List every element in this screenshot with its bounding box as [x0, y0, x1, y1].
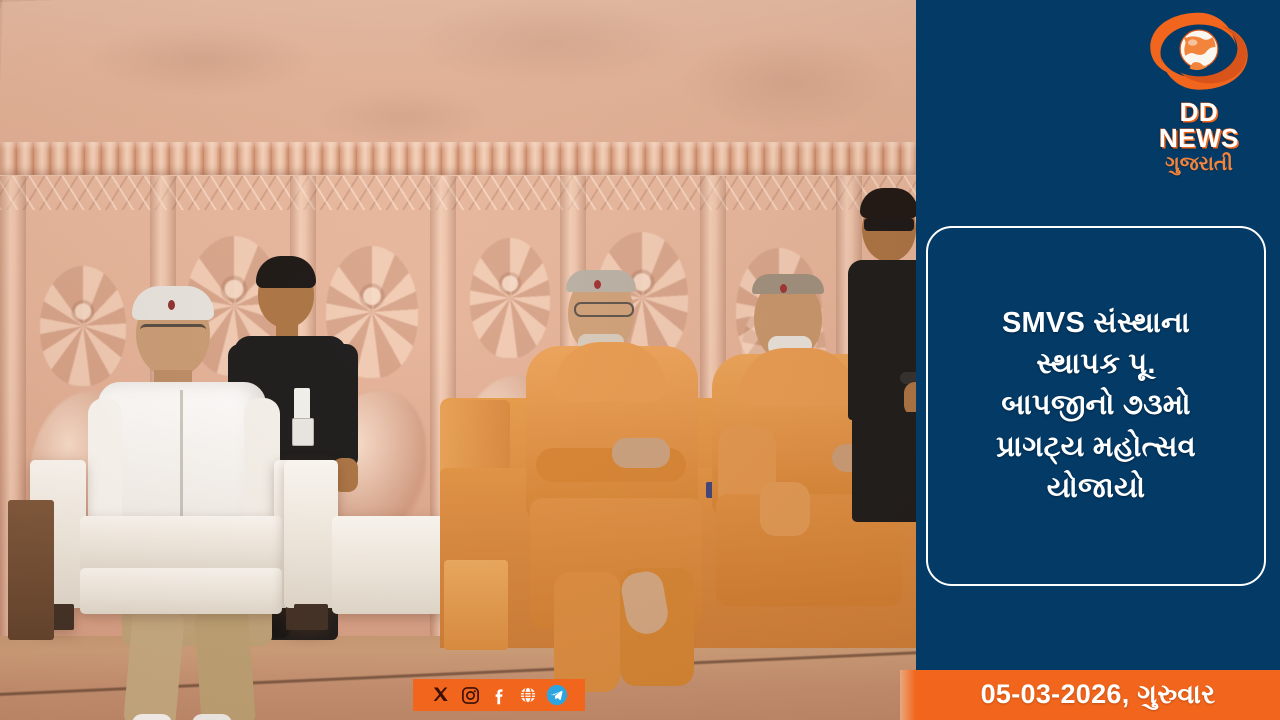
date-text: 05-03-2026, ગુરુવાર	[981, 679, 1216, 711]
security-officer-standing-right	[848, 182, 916, 512]
swami-seated-left	[520, 272, 710, 642]
date-bar: 05-03-2026, ગુરુવાર	[916, 670, 1280, 720]
wooden-stool	[8, 500, 54, 640]
telegram-icon[interactable]	[546, 684, 569, 707]
white-armchair-secondary	[284, 452, 444, 642]
x-twitter-icon[interactable]	[430, 684, 453, 707]
bead-molding-band	[0, 142, 916, 176]
date-bar-left-edge	[900, 670, 916, 720]
sandstone-wall-upper	[0, 0, 916, 150]
event-photograph	[0, 0, 916, 720]
globe-website-icon[interactable]	[517, 684, 540, 707]
dd-news-logo: DD NEWS ગુજરાતી	[1140, 8, 1258, 156]
sofa-drape-fold	[444, 560, 508, 650]
facebook-icon[interactable]	[488, 684, 511, 707]
instagram-icon[interactable]	[459, 684, 482, 707]
news-lower-third-screen: DD NEWS ગુજરાતી SMVS સંસ્થાના સ્થાપક પૂ.…	[0, 0, 1280, 720]
headline-text: SMVS સંસ્થાના સ્થાપક પૂ. બાપજીનો ૭૩મો પ્…	[996, 303, 1196, 509]
dd-news-language-label: ગુજરાતી	[1140, 153, 1258, 175]
dd-news-wordmark: DD NEWS	[1140, 99, 1258, 151]
dd-eye-globe-icon	[1144, 8, 1254, 96]
sunglasses-icon	[864, 218, 914, 231]
social-media-bar[interactable]	[413, 679, 585, 711]
headline-box: SMVS સંસ્થાના સ્થાપક પૂ. બાપજીનો ૭૩મો પ્…	[926, 226, 1266, 586]
headline-panel: DD NEWS ગુજરાતી SMVS સંસ્થાના સ્થાપક પૂ.…	[916, 0, 1280, 720]
lattice-frieze	[0, 176, 916, 210]
